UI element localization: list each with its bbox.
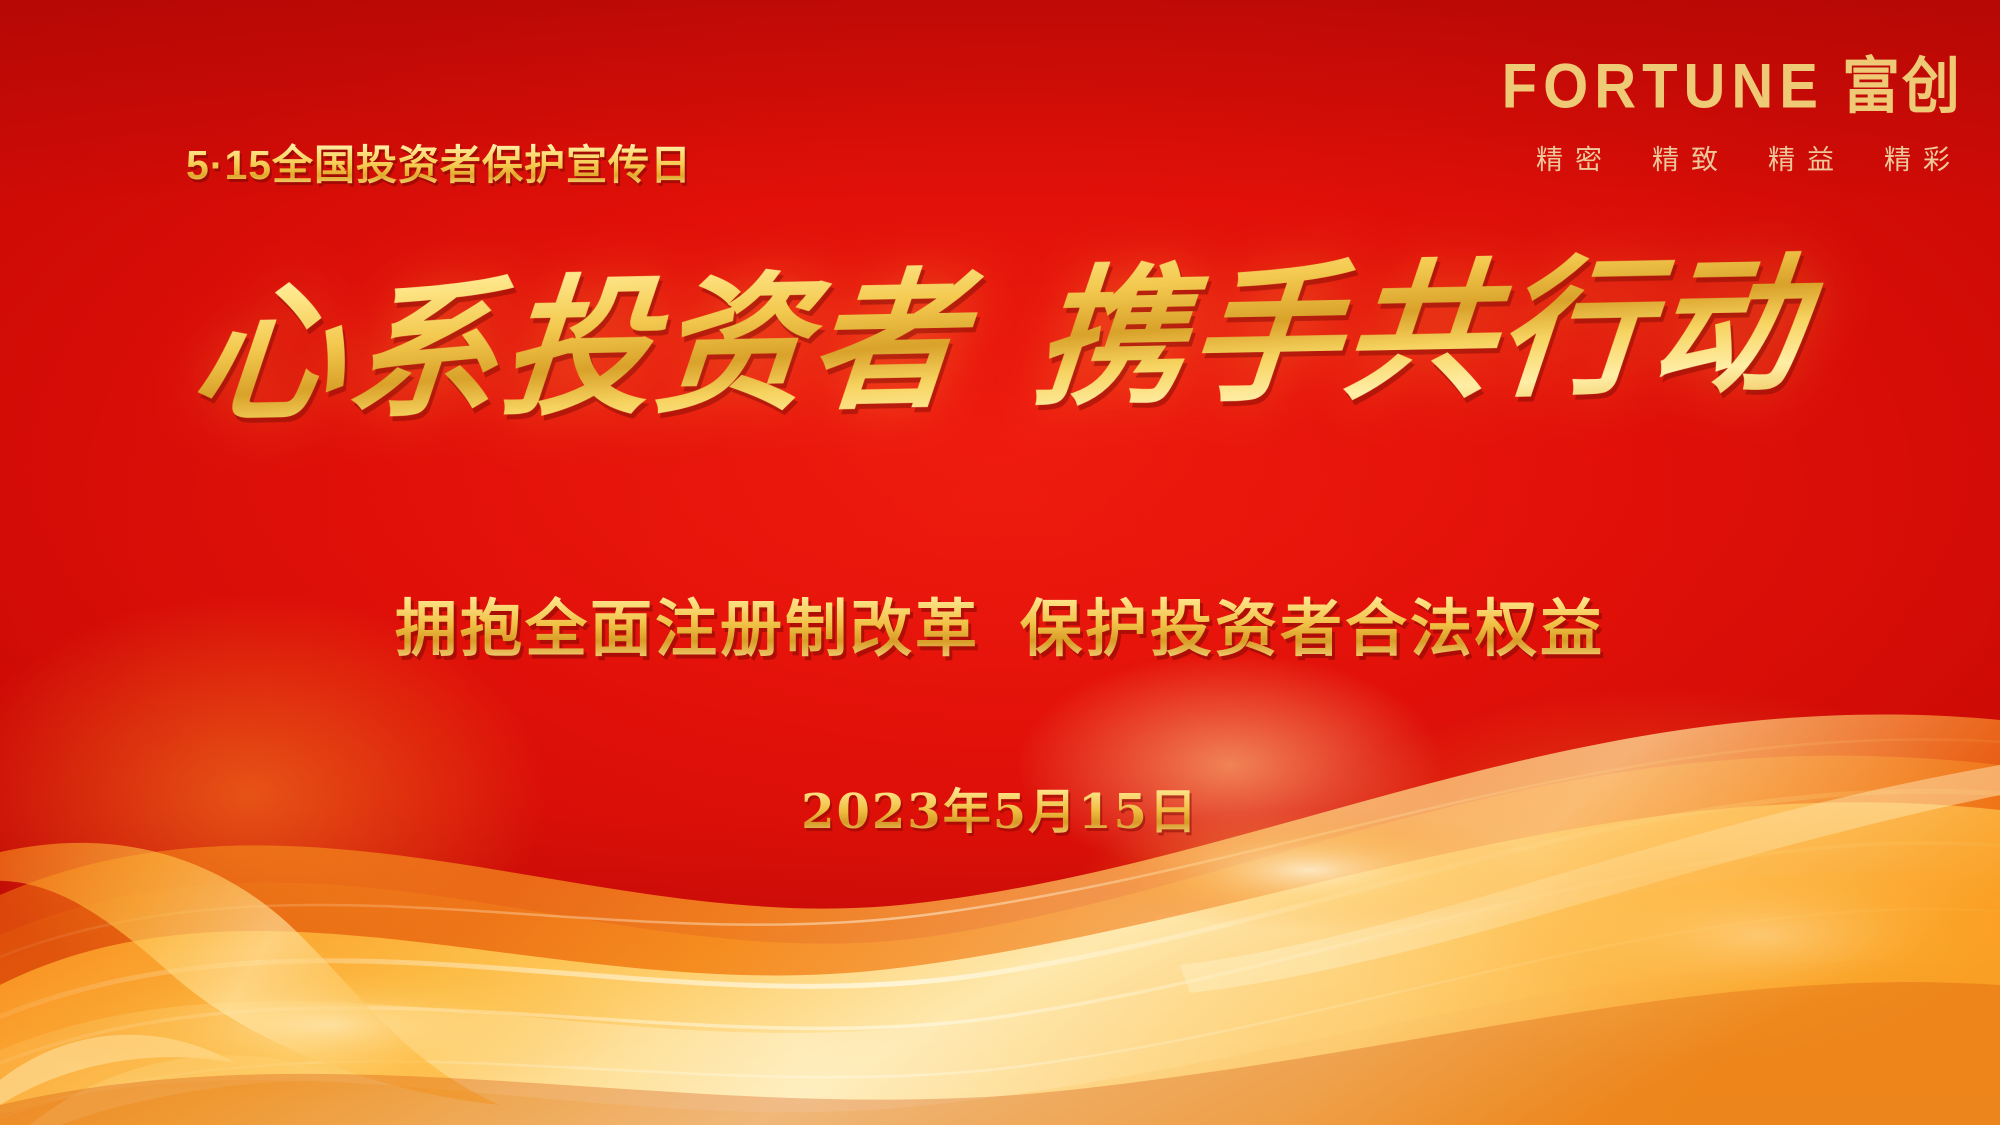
logo-wordmark-cn: 富创 — [1842, 57, 1962, 118]
headline-calligraphy: 心系投资者携手共行动 — [0, 233, 2000, 448]
banner-poster: 5·15全国投资者保护宣传日 FORTUNE 富创 精密 精致 精益 精彩 心系… — [0, 0, 2000, 1125]
logo-tagline-word-2: 精致 — [1652, 138, 1730, 177]
headline-part-1: 心系投资者 — [186, 253, 973, 444]
logo-tagline-word-1: 精密 — [1536, 138, 1614, 177]
logo-tagline-word-3: 精益 — [1768, 138, 1846, 177]
ribbon-glow-right — [1280, 685, 2000, 1065]
logo-wordmark: FORTUNE — [1502, 56, 1824, 119]
logo-tagline-word-4: 精彩 — [1884, 138, 1962, 177]
logo-row: FORTUNE 富创 — [1502, 58, 1962, 116]
subtitle-part-1: 拥抱全面注册制改革 — [395, 595, 980, 664]
event-date: 2023年5月15日 — [0, 772, 2000, 842]
headline-part-2: 携手共行动 — [1028, 237, 1815, 428]
campaign-kicker: 5·15全国投资者保护宣传日 — [186, 142, 692, 189]
headline-spacer — [961, 391, 1031, 392]
brand-logo: FORTUNE 富创 精密 精致 精益 精彩 — [1502, 58, 1962, 177]
logo-tagline: 精密 精致 精益 精彩 — [1502, 138, 1962, 177]
ribbon-glow-center — [1020, 655, 1440, 875]
subtitle-part-2: 保护投资者合法权益 — [1020, 595, 1605, 664]
subtitle-line: 拥抱全面注册制改革保护投资者合法权益 — [0, 578, 2000, 668]
